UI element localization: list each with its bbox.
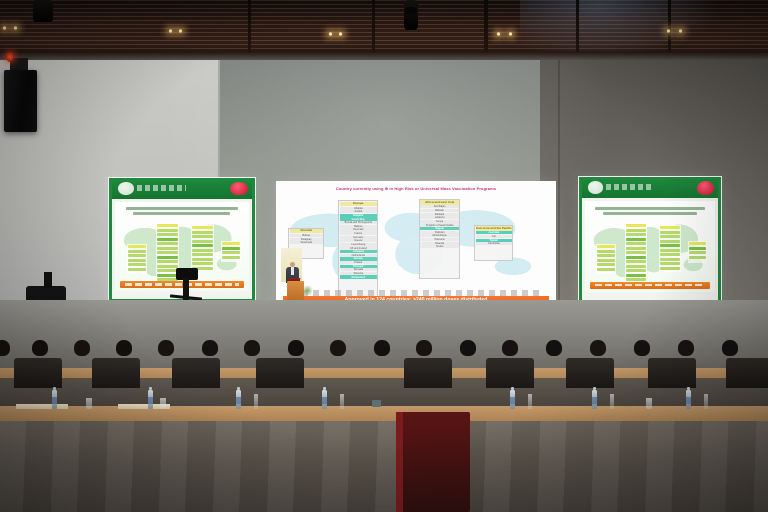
chair-back xyxy=(14,358,62,388)
audience-row-back xyxy=(0,310,768,340)
country-row: Sudan xyxy=(420,245,459,248)
slide-frame xyxy=(579,177,721,303)
ceiling-spotlight xyxy=(2,26,7,30)
chair-front-center xyxy=(396,412,470,512)
right-projection-screen xyxy=(578,176,722,304)
ceiling-projector xyxy=(404,0,418,30)
ceiling-spotlight xyxy=(508,32,513,36)
chair-back xyxy=(486,358,534,388)
chair-back xyxy=(92,358,140,388)
ceiling-spotlight xyxy=(496,32,501,36)
ceiling-spotlight xyxy=(328,32,333,36)
water-bottle xyxy=(686,390,691,409)
wall-speaker xyxy=(4,70,37,132)
region-title: Europe xyxy=(340,202,377,206)
drinking-glass xyxy=(160,398,166,409)
left-projection-screen xyxy=(108,177,256,303)
ceiling-spotlight xyxy=(178,29,183,33)
country-row: Switzerland xyxy=(340,275,377,278)
country-row: Bosnia and Herzegovina xyxy=(340,221,377,224)
country-row: Cambodia xyxy=(476,242,512,245)
region-title: East Asia and the Pacific xyxy=(476,226,512,230)
region-title: Africa and west Asia xyxy=(420,200,459,204)
region-box-africa-west-asia: Africa and west Asia Azerbaijan Bahrain … xyxy=(419,199,461,280)
chair-back xyxy=(726,358,768,388)
wall-seam xyxy=(558,60,560,310)
napkin xyxy=(16,404,68,409)
presenter-shirt xyxy=(291,267,294,275)
indicator-lamp-icon xyxy=(6,52,14,62)
ceiling-spotlight xyxy=(13,26,18,30)
region-box-europe: Europe Albania Austria Bulgaria Czech Re… xyxy=(338,200,378,299)
chair-back xyxy=(256,358,304,388)
drinking-glass xyxy=(86,398,92,409)
chair-back xyxy=(172,358,220,388)
slide-frame xyxy=(109,178,255,302)
ceiling-beam xyxy=(372,0,375,60)
country-row: Kingdom of Saudi Arabia xyxy=(420,223,459,226)
country-row: Venezuela xyxy=(290,241,323,244)
region-box-east-asia-pacific: East Asia and the Pacific Australia Fiji… xyxy=(474,225,513,261)
decorative-plant xyxy=(303,284,312,295)
water-bottle xyxy=(236,390,241,409)
presenter-at-podium xyxy=(279,248,313,304)
ceiling-spotlight xyxy=(338,32,343,36)
champagne-flute xyxy=(610,394,614,409)
ceiling xyxy=(0,0,768,60)
ceiling-spotlight xyxy=(666,29,671,33)
ceiling-beam xyxy=(248,0,251,60)
chair-back xyxy=(648,358,696,388)
champagne-flute xyxy=(340,394,344,409)
podium xyxy=(287,281,304,301)
champagne-flute xyxy=(528,394,532,409)
av-stand xyxy=(44,272,52,288)
ceiling-spotlight xyxy=(678,29,683,33)
water-bottle xyxy=(510,390,515,409)
projector-lens-icon xyxy=(405,7,417,14)
region-title: America xyxy=(290,229,323,233)
champagne-flute xyxy=(254,394,258,409)
ceiling-speaker xyxy=(33,0,53,22)
water-bottle xyxy=(592,390,597,409)
chair-trim xyxy=(396,412,403,512)
water-bottle xyxy=(322,390,327,409)
main-projection-screen: Country currently using ⊕ in High Risk o… xyxy=(276,181,556,313)
slide-title: Country currently using ⊕ in High Risk o… xyxy=(288,186,544,191)
water-bottle xyxy=(52,390,57,409)
coffee-cup xyxy=(372,400,381,407)
chair-back xyxy=(404,358,452,388)
table-skirt-folds xyxy=(0,421,768,512)
drinking-glass xyxy=(646,398,652,409)
ceiling-spotlight xyxy=(168,29,173,33)
ceiling-beam xyxy=(484,0,488,60)
ceiling-beam xyxy=(576,0,579,60)
champagne-flute xyxy=(704,394,708,409)
chair-back xyxy=(566,358,614,388)
water-bottle xyxy=(148,390,153,409)
ceiling-light-sheen xyxy=(520,0,720,60)
conference-hall-photo: Country currently using ⊕ in High Risk o… xyxy=(0,0,768,512)
